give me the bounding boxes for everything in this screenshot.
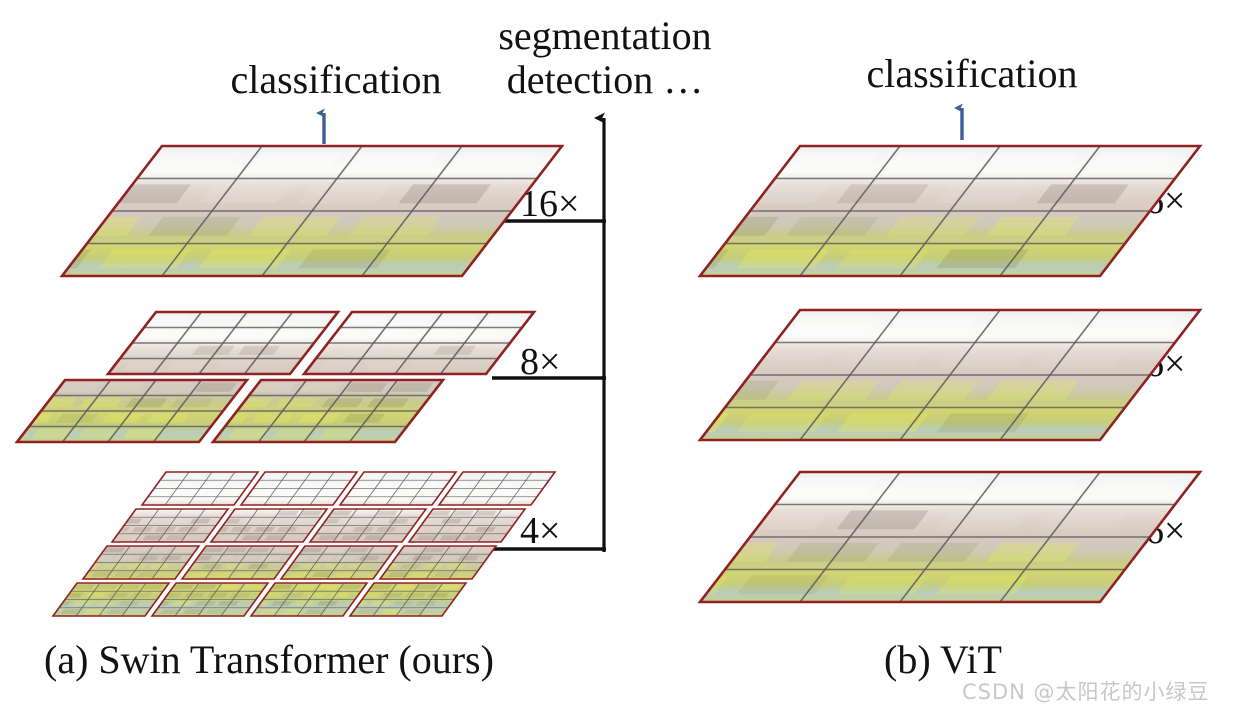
swin-feature-map-16x bbox=[62, 146, 562, 276]
swin-feature-map-4x bbox=[380, 546, 496, 579]
swin-feature-map-8x bbox=[304, 312, 534, 374]
figure-canvas: classification segmentation detection … … bbox=[0, 0, 1235, 708]
vit-feature-map-3 bbox=[700, 472, 1200, 602]
vit-feature-map-1 bbox=[700, 146, 1200, 276]
vit-feature-map-2 bbox=[700, 310, 1200, 440]
swin-feature-map-4x bbox=[350, 583, 466, 616]
swin-feature-map-4x bbox=[409, 509, 525, 542]
swin-feature-map-8x bbox=[213, 380, 443, 442]
swin-feature-map-4x bbox=[439, 472, 555, 505]
